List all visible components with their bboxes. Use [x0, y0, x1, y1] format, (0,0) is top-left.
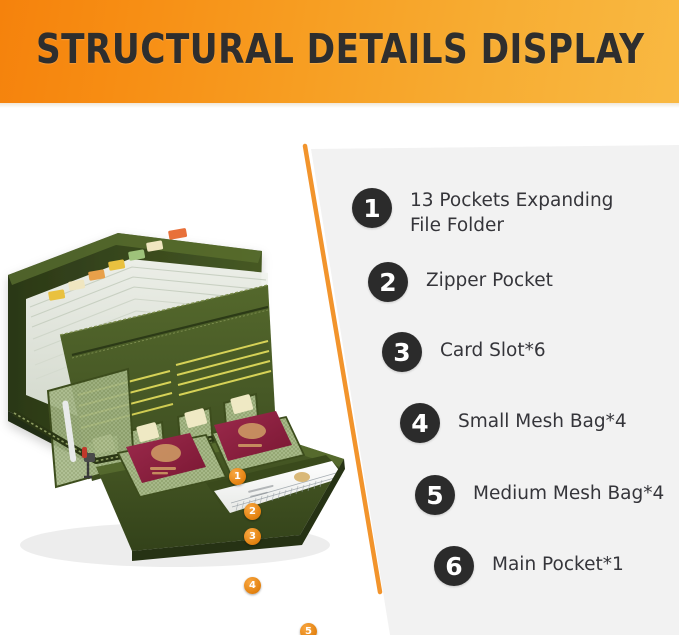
feature-label-2: Zipper Pocket: [426, 262, 553, 293]
header-banner: STRUCTURAL DETAILS DISPLAY: [0, 0, 679, 103]
feature-label-4: Small Mesh Bag*4: [458, 403, 627, 434]
product-photo: 1 2 3 4 5 6: [0, 215, 345, 585]
feature-row-6: 6 Main Pocket*1: [434, 546, 624, 586]
feature-badge-3: 3: [382, 332, 422, 372]
product-illustration: [0, 215, 345, 585]
product-feature-infographic: STRUCTURAL DETAILS DISPLAY: [0, 0, 679, 635]
feature-row-5: 5 Medium Mesh Bag*4: [415, 475, 664, 515]
photo-badge-2: 2: [244, 503, 261, 520]
feature-badge-6: 6: [434, 546, 474, 586]
feature-label-1: 13 Pockets Expanding File Folder: [410, 188, 613, 238]
feature-row-1: 1 13 Pockets Expanding File Folder: [352, 188, 613, 238]
photo-badge-1: 1: [229, 468, 246, 485]
banner-shadow: [0, 103, 679, 108]
page-title: STRUCTURAL DETAILS DISPLAY: [36, 25, 645, 73]
feature-badge-2: 2: [368, 262, 408, 302]
feature-row-2: 2 Zipper Pocket: [368, 262, 553, 302]
feature-label-6: Main Pocket*1: [492, 546, 624, 577]
feature-label-5: Medium Mesh Bag*4: [473, 475, 664, 506]
feature-row-4: 4 Small Mesh Bag*4: [400, 403, 627, 443]
photo-badge-4: 4: [244, 577, 261, 594]
feature-row-3: 3 Card Slot*6: [382, 332, 546, 372]
feature-label-3: Card Slot*6: [440, 332, 546, 363]
feature-badge-1: 1: [352, 188, 392, 228]
feature-badge-4: 4: [400, 403, 440, 443]
photo-badge-3: 3: [244, 528, 261, 545]
photo-badge-5: 5: [300, 623, 317, 635]
feature-badge-5: 5: [415, 475, 455, 515]
